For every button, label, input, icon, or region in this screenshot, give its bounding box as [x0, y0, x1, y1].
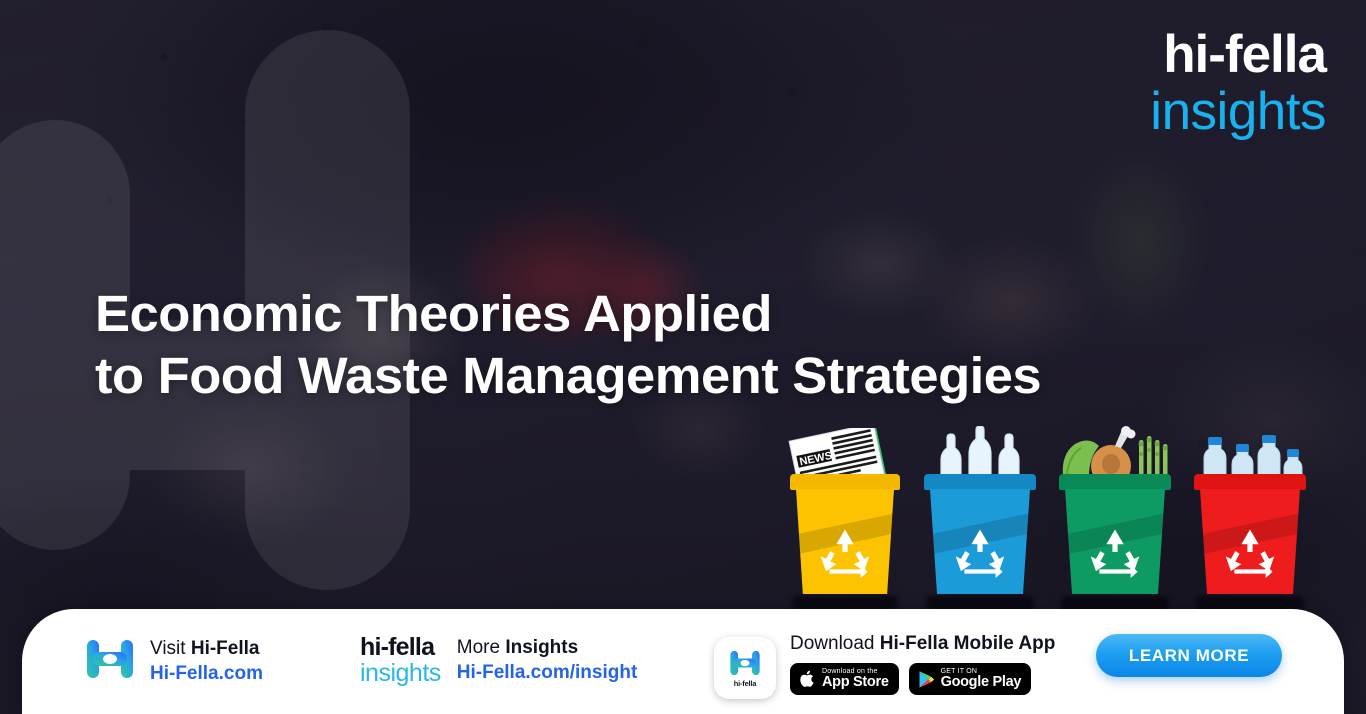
- insights-logo-secondary: insights: [360, 661, 441, 687]
- recycle-icon: [1087, 526, 1143, 583]
- visit-block[interactable]: Visit Hi-Fella Hi-Fella.com: [85, 637, 263, 686]
- visit-line-1: Visit Hi-Fella: [150, 637, 263, 661]
- insights-line-1: More Insights: [457, 636, 638, 660]
- plastic-bin-lid: [1194, 474, 1306, 490]
- page-title: Economic Theories Applied to Food Waste …: [95, 283, 1041, 407]
- brand-logo-secondary: insights: [1150, 85, 1326, 138]
- google-play-badge[interactable]: GET IT ON Google Play: [909, 663, 1032, 695]
- hifella-logo-icon: [85, 637, 135, 686]
- visit-url[interactable]: Hi-Fella.com: [150, 662, 263, 686]
- brand-logo-primary: hi-fella: [1150, 28, 1326, 81]
- paper-bin: NEWS: [796, 474, 894, 608]
- banner-root: hi-fella insights Economic Theories Appl…: [0, 0, 1366, 714]
- download-block: hi-fella Download Hi-Fella Mobile App Do…: [714, 627, 1055, 699]
- app-store-big: App Store: [822, 675, 889, 690]
- insights-url[interactable]: Hi-Fella.com/insight: [457, 661, 638, 685]
- brand-logo: hi-fella insights: [1150, 28, 1326, 138]
- app-tile-label: hi-fella: [734, 679, 757, 688]
- recycle-icon: [952, 526, 1008, 583]
- app-store-badge[interactable]: Download on the App Store: [790, 663, 899, 695]
- learn-more-button[interactable]: LEARN MORE: [1096, 634, 1282, 677]
- page-title-line-1: Economic Theories Applied: [95, 285, 772, 342]
- app-icon-tile[interactable]: hi-fella: [714, 637, 776, 699]
- recycling-bins-illustration: NEWS: [780, 418, 1320, 608]
- download-title: Download Hi-Fella Mobile App: [790, 633, 1055, 655]
- recycle-icon: [817, 526, 873, 583]
- insights-logo-primary: hi-fella: [360, 635, 441, 661]
- recycle-icon: [1222, 526, 1278, 583]
- paper-bin-lid: [790, 474, 900, 490]
- plastic-bin: [1200, 474, 1300, 608]
- footer-bar: Visit Hi-Fella Hi-Fella.com hi-fella ins…: [22, 609, 1344, 714]
- organic-bin-lid: [1059, 474, 1171, 490]
- google-play-big: Google Play: [941, 675, 1022, 690]
- glass-bin-lid: [924, 474, 1036, 490]
- insights-logo: hi-fella insights: [360, 635, 441, 686]
- insights-block[interactable]: hi-fella insights More Insights Hi-Fella…: [360, 635, 637, 686]
- organic-bin: [1065, 474, 1165, 608]
- glass-bin: [930, 474, 1030, 608]
- apple-icon: [799, 669, 816, 689]
- page-title-line-2: to Food Waste Management Strategies: [95, 345, 1041, 407]
- google-play-icon: [918, 670, 935, 689]
